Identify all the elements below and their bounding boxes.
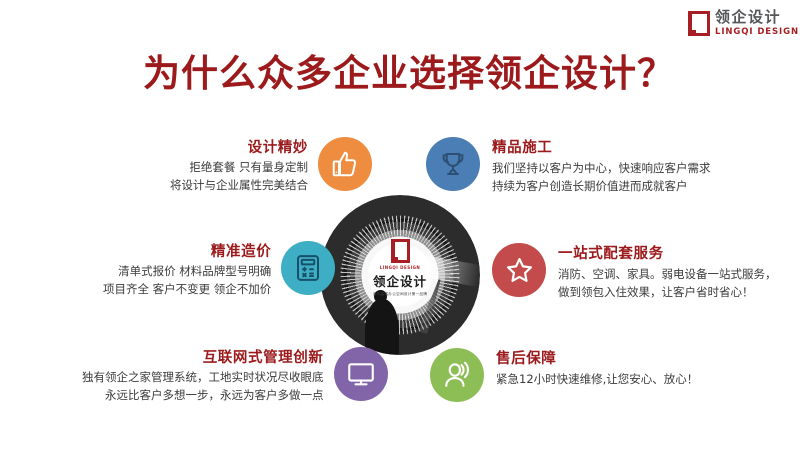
feature-aftersales-text: 售后保障 紧急12小时快速维修,让您安心、放心！ <box>496 348 698 389</box>
star-icon <box>492 243 546 297</box>
feature-design-line-1: 拒绝套餐 只有量身定制 <box>170 159 308 177</box>
feature-management-line-2: 永远比客户多想一步，永远为客户多做一点 <box>82 387 324 405</box>
brand-logo: 领企设计 LINGQI DESIGN <box>688 10 799 37</box>
feature-design-line-2: 将设计与企业属性完美结合 <box>170 177 308 195</box>
feature-management-title: 互联网式管理创新 <box>82 349 324 367</box>
center-logo-tagline: 深圳高端办公空间设计第一品牌 <box>320 292 480 297</box>
center-cityscape-photo: LINGQI DESIGN 领企设计 深圳高端办公空间设计第一品牌 <box>320 195 480 355</box>
feature-management-line-1: 独有领企之家管理系统，工地实时状况尽收眼底 <box>82 369 324 387</box>
slide-canvas: 领企设计 LINGQI DESIGN 为什么众多企业选择领企设计？ LINGQI… <box>0 0 800 453</box>
feature-management-text: 互联网式管理创新 独有领企之家管理系统，工地实时状况尽收眼底 永远比客户多想一步… <box>82 347 324 405</box>
feature-pricing[interactable]: 精准造价 清单式报价 材料品牌型号明确 项目齐全 客户不变更 领企不加价 <box>103 241 335 299</box>
feature-onestop-title: 一站式配套服务 <box>558 245 777 263</box>
feature-construction-line-2: 持续为客户创造长期价值进而成就客户 <box>492 178 711 196</box>
logo-bracket-icon <box>391 239 410 263</box>
customer-service-icon <box>430 348 484 402</box>
monitor-icon <box>334 347 388 401</box>
thumbs-up-icon <box>318 137 372 191</box>
center-logo: LINGQI DESIGN 领企设计 深圳高端办公空间设计第一品牌 <box>320 239 480 297</box>
logo-bracket-icon <box>688 11 710 36</box>
feature-onestop-line-1: 消防、空调、家具。弱电设备一站式服务， <box>558 266 777 284</box>
feature-pricing-text: 精准造价 清单式报价 材料品牌型号明确 项目齐全 客户不变更 领企不加价 <box>103 241 271 299</box>
feature-management[interactable]: 互联网式管理创新 独有领企之家管理系统，工地实时状况尽收眼底 永远比客户多想一步… <box>82 347 388 405</box>
feature-design-title: 设计精妙 <box>170 139 308 157</box>
feature-aftersales-line-1: 紧急12小时快速维修,让您安心、放心！ <box>496 371 698 389</box>
feature-pricing-line-1: 清单式报价 材料品牌型号明确 <box>103 263 271 281</box>
feature-aftersales-title: 售后保障 <box>496 350 698 368</box>
brand-name-cn: 领企设计 <box>715 10 799 25</box>
trophy-icon <box>426 137 480 191</box>
feature-aftersales[interactable]: 售后保障 紧急12小时快速维修,让您安心、放心！ <box>430 348 698 402</box>
feature-construction-line-1: 我们坚持以客户为中心，快速响应客户需求 <box>492 160 711 178</box>
feature-onestop-text: 一站式配套服务 消防、空调、家具。弱电设备一站式服务， 做到领包入住效果，让客户… <box>558 243 777 302</box>
center-logo-cn: 领企设计 <box>320 271 480 290</box>
feature-pricing-line-2: 项目齐全 客户不变更 领企不加价 <box>103 281 271 299</box>
feature-construction-text: 精品施工 我们坚持以客户为中心，快速响应客户需求 持续为客户创造长期价值进而成就… <box>492 137 711 196</box>
brand-logo-text: 领企设计 LINGQI DESIGN <box>715 10 799 37</box>
page-title: 为什么众多企业选择领企设计？ <box>143 43 675 97</box>
feature-design[interactable]: 设计精妙 拒绝套餐 只有量身定制 将设计与企业属性完美结合 <box>170 137 372 195</box>
feature-design-text: 设计精妙 拒绝套餐 只有量身定制 将设计与企业属性完美结合 <box>170 137 308 195</box>
feature-onestop-line-2: 做到领包入住效果，让客户省时省心！ <box>558 284 777 302</box>
feature-construction-title: 精品施工 <box>492 139 711 157</box>
feature-onestop[interactable]: 一站式配套服务 消防、空调、家具。弱电设备一站式服务， 做到领包入住效果，让客户… <box>492 243 777 302</box>
feature-construction[interactable]: 精品施工 我们坚持以客户为中心，快速响应客户需求 持续为客户创造长期价值进而成就… <box>426 137 711 196</box>
brand-name-en: LINGQI DESIGN <box>715 28 799 37</box>
center-logo-en: LINGQI DESIGN <box>320 265 480 270</box>
feature-pricing-title: 精准造价 <box>103 243 271 261</box>
